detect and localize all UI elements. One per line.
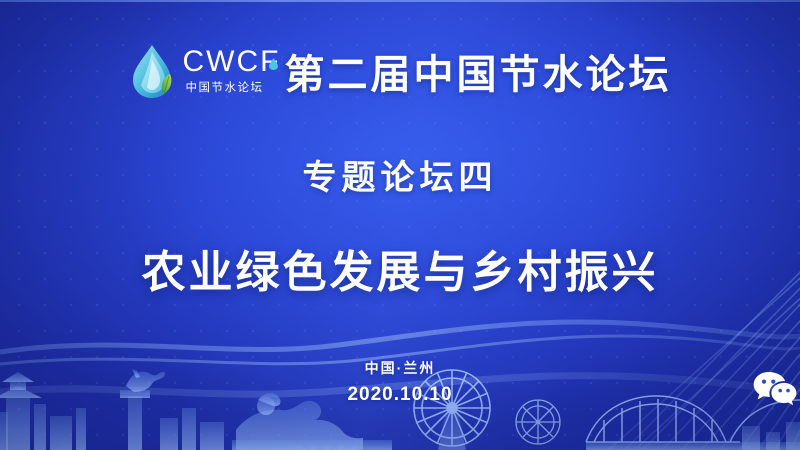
water-drop-icon: [269, 58, 278, 70]
event-date: 2020.10.10: [0, 384, 800, 406]
poster-header: CWCF 中国节水论坛 第二届中国节水论坛: [0, 42, 800, 100]
wechat-icon: [753, 370, 797, 408]
cwcf-logo: CWCF 中国节水论坛: [129, 43, 267, 99]
conference-poster: CWCF 中国节水论坛 第二届中国节水论坛 专题论坛四 农业绿色发展与乡村振兴 …: [0, 0, 800, 450]
cwcf-acronym: CWCF: [183, 47, 267, 77]
water-drop-leaf-icon: [129, 43, 175, 99]
poster-footer: 中国·兰州 2020.10.10: [0, 358, 800, 406]
forum-subtitle: 专题论坛四: [0, 150, 800, 199]
cwcf-logo-text: CWCF 中国节水论坛: [183, 47, 267, 95]
cwcf-acronym-text: CWCF: [183, 47, 281, 77]
event-location: 中国·兰州: [0, 358, 800, 378]
forum-headline: 农业绿色发展与乡村振兴: [0, 236, 800, 300]
page-title: 第二届中国节水论坛: [284, 42, 671, 100]
top-edge-highlight: [0, 0, 800, 2]
cwcf-chinese-name: 中国节水论坛: [185, 83, 263, 95]
